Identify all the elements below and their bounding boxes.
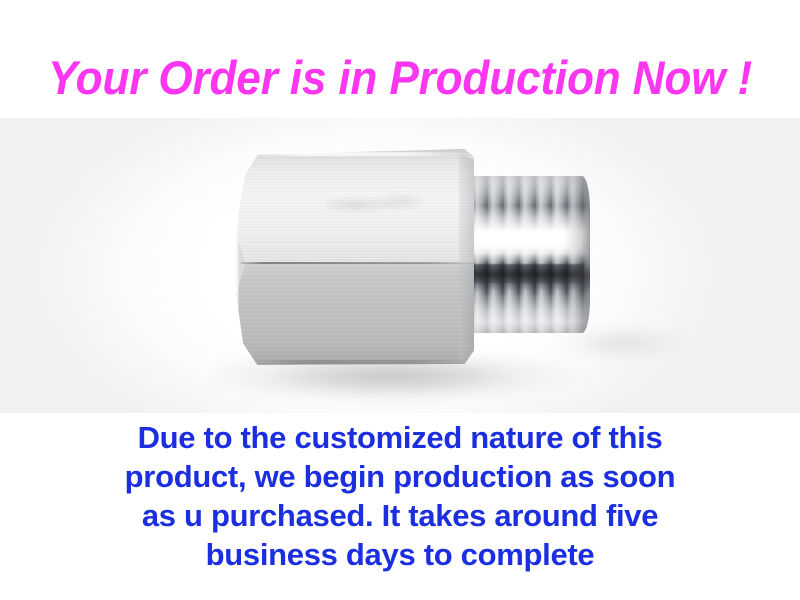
production-notice: Due to the customized nature of this pro… bbox=[60, 418, 740, 574]
hex-face-edge bbox=[241, 262, 474, 264]
page-title: Your Order is in Production Now ! bbox=[24, 52, 776, 104]
notice-line-3: as u purchased. It takes around five bbox=[60, 496, 740, 535]
product-photo bbox=[0, 118, 800, 413]
hex-surface-scuff bbox=[326, 188, 426, 223]
notice-line-4: business days to complete bbox=[60, 535, 740, 574]
hex-rim-highlight-top bbox=[248, 152, 469, 156]
hex-body bbox=[236, 149, 474, 365]
hex-rim-shade-bottom bbox=[248, 360, 467, 364]
threaded-male-end bbox=[455, 176, 590, 333]
notice-line-1: Due to the customized nature of this bbox=[60, 418, 740, 457]
promo-banner: Your Order is in Production Now ! Due to… bbox=[0, 0, 800, 600]
hex-face-lower bbox=[236, 263, 474, 365]
notice-line-2: product, we begin production as soon bbox=[60, 457, 740, 496]
thread-tip-shading bbox=[564, 176, 590, 333]
